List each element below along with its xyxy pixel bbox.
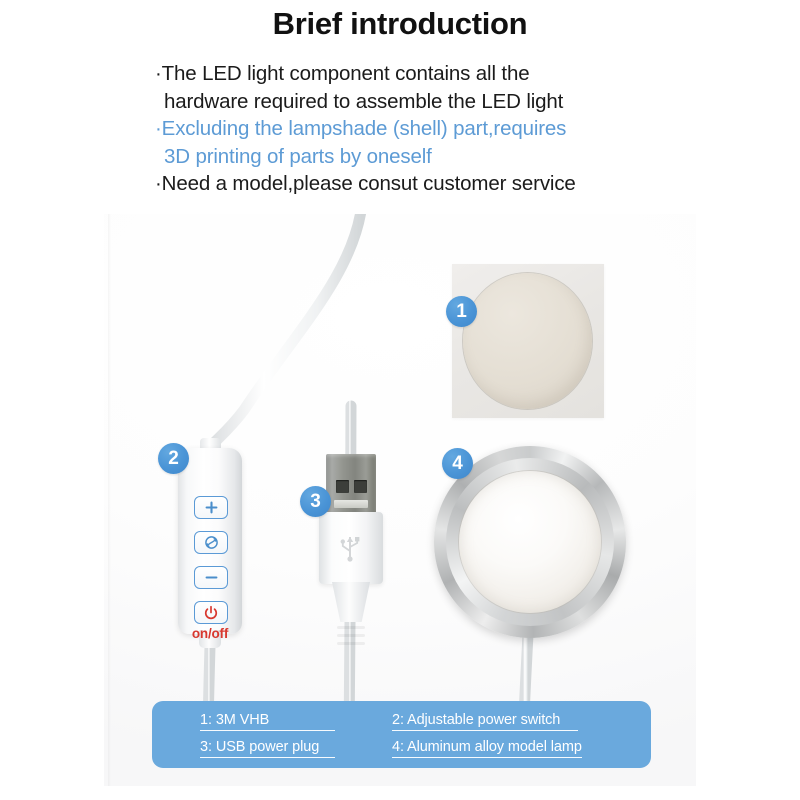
power-icon [203, 605, 219, 621]
page-title: Brief introduction [0, 6, 800, 42]
minus-icon [204, 570, 219, 585]
usb-power-plug [316, 454, 386, 654]
badge-4: 4 [442, 448, 473, 479]
intro-bullet-list: ·The LED light component contains all th… [155, 60, 655, 198]
legend-box: 1: 3M VHB 2: Adjustable power switch 3: … [152, 701, 651, 768]
usb-strain-rib [337, 642, 365, 645]
cable-top [211, 214, 362, 446]
usb-contact-tongue [334, 500, 368, 508]
plus-icon [204, 500, 219, 515]
color-cycle-button[interactable] [194, 531, 228, 554]
intro-bullet-3: ·Need a model,please consut customer ser… [155, 170, 655, 198]
usb-strain-relief [332, 582, 370, 622]
badge-3: 3 [300, 486, 331, 517]
usb-contact-hole-right [354, 480, 367, 493]
usb-strain-rib [337, 634, 365, 637]
legend-item-1: 1: 3M VHB [200, 712, 335, 731]
intro-bullet-1: ·The LED light component contains all th… [155, 60, 655, 115]
usb-trident-icon [338, 532, 362, 562]
legend-item-3: 3: USB power plug [200, 739, 335, 758]
brightness-up-button[interactable] [194, 496, 228, 519]
lamp-diffuser [459, 471, 601, 613]
badge-1: 1 [446, 296, 477, 327]
vhb-adhesive-disc [463, 273, 592, 409]
legend-item-4: 4: Aluminum alloy model lamp [392, 739, 582, 758]
usb-strain-rib [337, 626, 365, 629]
power-button[interactable] [194, 601, 228, 624]
usb-contact-hole-left [336, 480, 349, 493]
onoff-label: on/off [178, 626, 242, 641]
intro-bullet-2: ·Excluding the lampshade (shell) part,re… [155, 115, 655, 170]
legend-item-2: 2: Adjustable power switch [392, 712, 578, 731]
cycle-icon [203, 534, 220, 551]
vhb-adhesive-pad [452, 264, 604, 418]
brightness-down-button[interactable] [194, 566, 228, 589]
badge-2: 2 [158, 443, 189, 474]
